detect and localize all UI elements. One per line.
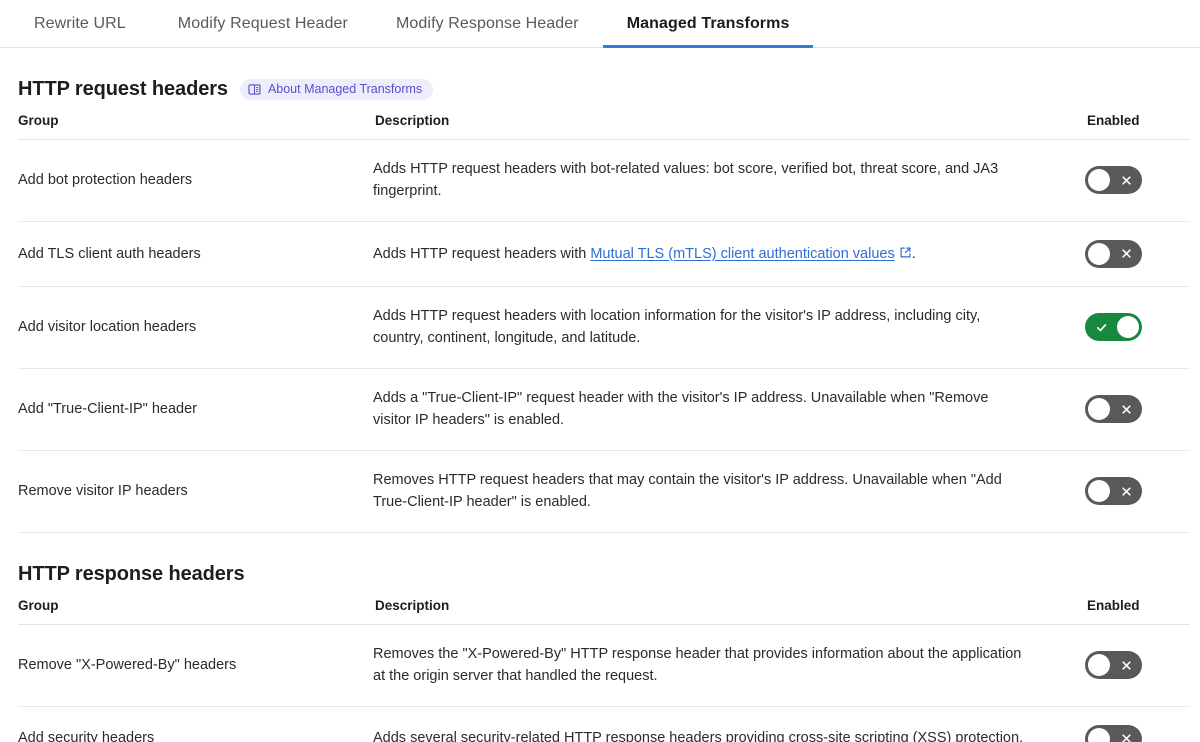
row-group-name: Add visitor location headers [18,286,373,368]
toggle-knob [1088,728,1110,742]
close-icon [1119,395,1133,423]
column-header-group: Group [18,598,373,625]
table-row: Add bot protection headers Adds HTTP req… [18,140,1190,222]
row-group-name: Add bot protection headers [18,140,373,222]
table-head: Group Description Enabled [18,113,1190,140]
managed-transforms-request-table: Group Description Enabled Add bot protec… [18,113,1190,533]
table-header-row: Group Description Enabled [18,598,1190,625]
column-header-enabled: Enabled [1085,598,1190,625]
tab-rewrite-url[interactable]: Rewrite URL [28,0,154,47]
table-body: Remove "X-Powered-By" headers Removes th… [18,624,1190,742]
section-header: HTTP request headers About Managed Trans… [18,48,1190,113]
tab-bar: Rewrite URL Modify Request Header Modify… [0,0,1200,48]
tab-label: Managed Transforms [627,15,790,33]
toggle-knob [1088,398,1110,420]
row-group-name: Remove "X-Powered-By" headers [18,624,373,706]
close-icon [1119,477,1133,505]
row-description: Adds HTTP request headers with Mutual TL… [373,221,1085,286]
tab-label: Modify Request Header [178,15,348,33]
enabled-toggle[interactable] [1085,240,1142,268]
table-row: Add security headers Adds several securi… [18,706,1190,742]
row-description: Adds a "True-Client-IP" request header w… [373,368,1085,450]
description-prefix: Adds HTTP request headers with [373,246,590,262]
table-row: Remove "X-Powered-By" headers Removes th… [18,624,1190,706]
enabled-toggle[interactable] [1085,725,1142,742]
table-head: Group Description Enabled [18,598,1190,625]
mtls-documentation-link[interactable]: Mutual TLS (mTLS) client authentication … [590,246,894,262]
enabled-toggle[interactable] [1085,313,1142,341]
page-content: HTTP request headers About Managed Trans… [0,48,1200,742]
description-suffix: . [912,246,916,262]
tab-modify-response-header[interactable]: Modify Response Header [372,0,603,47]
row-description: Removes HTTP request headers that may co… [373,450,1085,532]
page-title: HTTP request headers [18,78,228,101]
tab-label: Modify Response Header [396,15,579,33]
toggle-knob [1088,654,1110,676]
enabled-toggle[interactable] [1085,166,1142,194]
row-group-name: Remove visitor IP headers [18,450,373,532]
table-body: Add bot protection headers Adds HTTP req… [18,140,1190,533]
row-description: Adds HTTP request headers with bot-relat… [373,140,1085,222]
about-managed-transforms-badge[interactable]: About Managed Transforms [240,79,433,100]
table-row: Remove visitor IP headers Removes HTTP r… [18,450,1190,532]
table-row: Add visitor location headers Adds HTTP r… [18,286,1190,368]
row-enabled-cell [1085,450,1190,532]
badge-label: About Managed Transforms [268,83,422,96]
toggle-knob [1117,316,1139,338]
column-header-description: Description [373,113,1085,140]
toggle-knob [1088,169,1110,191]
table-row: Add TLS client auth headers Adds HTTP re… [18,221,1190,286]
enabled-toggle[interactable] [1085,477,1142,505]
tab-list: Rewrite URL Modify Request Header Modify… [0,0,813,47]
row-enabled-cell [1085,706,1190,742]
close-icon [1119,725,1133,742]
row-enabled-cell [1085,286,1190,368]
section-header: HTTP response headers [18,533,1190,598]
section-http-response-headers: HTTP response headers Group Description … [18,533,1190,742]
close-icon [1119,166,1133,194]
row-group-name: Add TLS client auth headers [18,221,373,286]
external-link-icon[interactable] [895,246,912,262]
row-enabled-cell [1085,140,1190,222]
row-group-name: Add security headers [18,706,373,742]
page-title: HTTP response headers [18,563,245,586]
enabled-toggle[interactable] [1085,395,1142,423]
check-icon [1094,313,1108,341]
toggle-knob [1088,243,1110,265]
row-enabled-cell [1085,624,1190,706]
toggle-knob [1088,480,1110,502]
row-description: Adds HTTP request headers with location … [373,286,1085,368]
table-row: Add "True-Client-IP" header Adds a "True… [18,368,1190,450]
row-enabled-cell [1085,221,1190,286]
close-icon [1119,240,1133,268]
tab-modify-request-header[interactable]: Modify Request Header [154,0,372,47]
tab-managed-transforms[interactable]: Managed Transforms [603,0,814,47]
column-header-description: Description [373,598,1085,625]
enabled-toggle[interactable] [1085,651,1142,679]
column-header-group: Group [18,113,373,140]
table-header-row: Group Description Enabled [18,113,1190,140]
row-enabled-cell [1085,368,1190,450]
tab-label: Rewrite URL [34,15,126,33]
row-description: Removes the "X-Powered-By" HTTP response… [373,624,1085,706]
column-header-enabled: Enabled [1085,113,1190,140]
managed-transforms-response-table: Group Description Enabled Remove "X-Powe… [18,598,1190,742]
row-group-name: Add "True-Client-IP" header [18,368,373,450]
close-icon [1119,651,1133,679]
book-icon [248,83,261,96]
row-description: Adds several security-related HTTP respo… [373,706,1085,742]
section-http-request-headers: HTTP request headers About Managed Trans… [18,48,1190,533]
